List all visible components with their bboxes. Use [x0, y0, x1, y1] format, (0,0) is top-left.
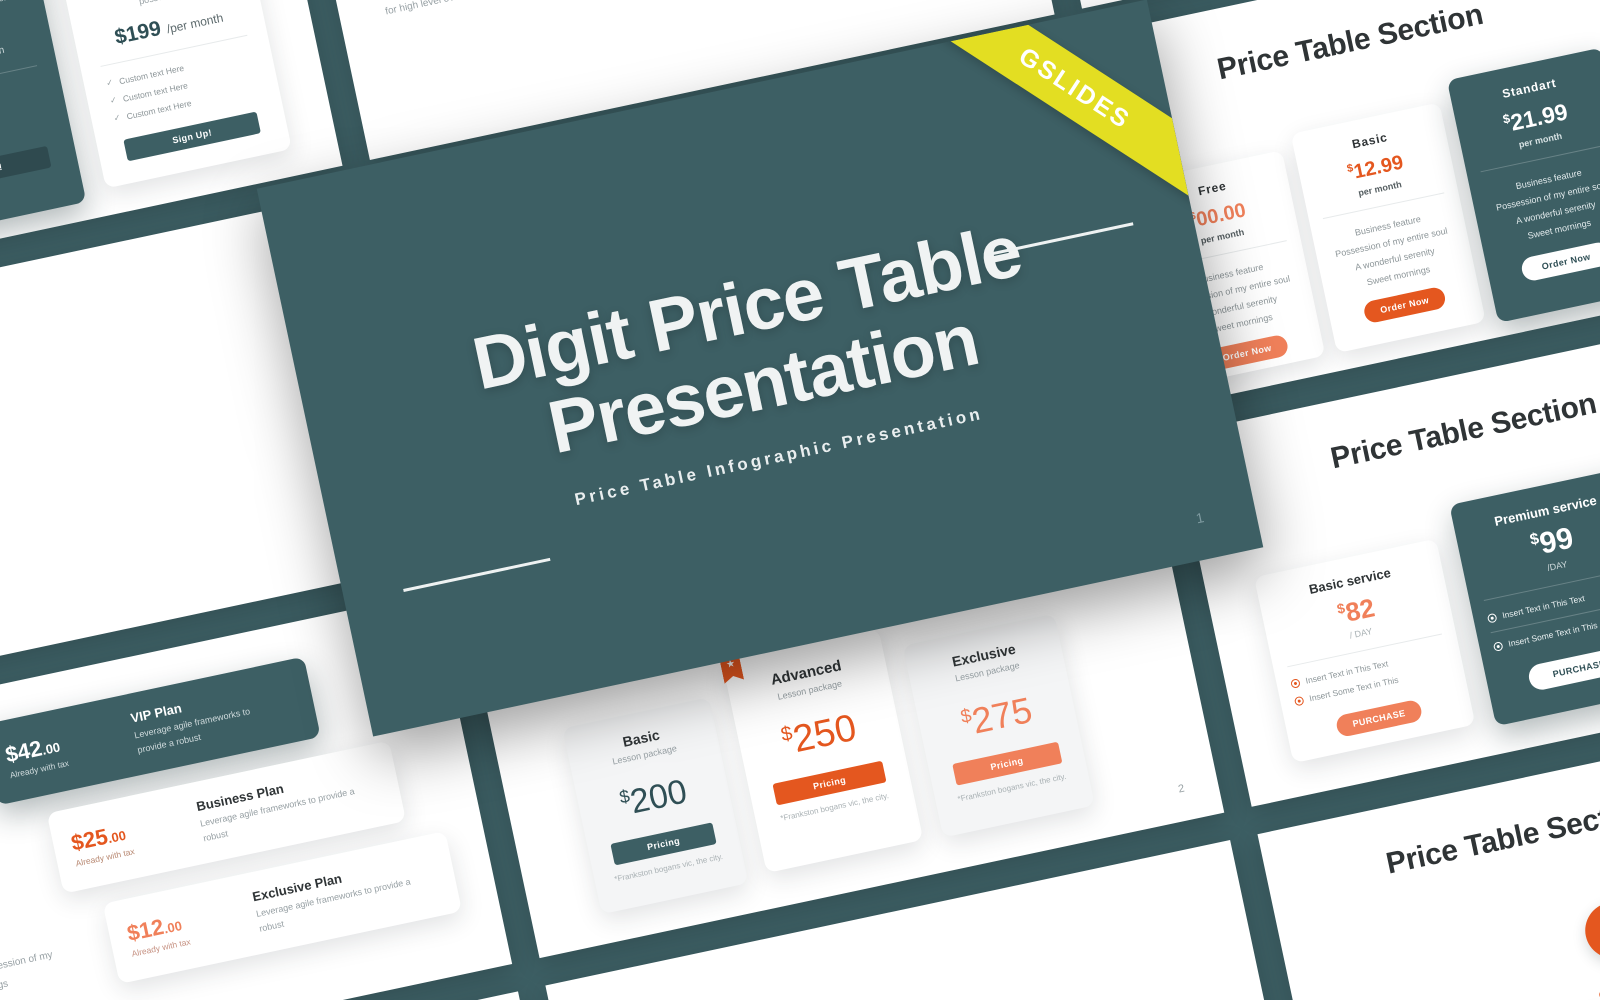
presentation-mockup-canvas: Price Table Section STANDART A wonderful… [0, 0, 1600, 1000]
purchase-button[interactable]: PURCHASE [1335, 699, 1423, 738]
check-circle-icon [1294, 695, 1305, 706]
presentation-title: Digit Price Table Presentation [466, 211, 1044, 480]
lesson-card-advanced[interactable]: ★ Advanced Lesson package $250 Pricing *… [722, 629, 923, 874]
purchase-button[interactable]: PURCHASE [1527, 645, 1600, 692]
plan-card-basic[interactable]: Basic $12.99 per month Business feature … [1291, 102, 1486, 353]
plan-features: Business feature Possession of my entire… [1480, 157, 1600, 253]
page-title: Price Table Section [1214, 0, 1486, 87]
check-circle-icon [1290, 678, 1301, 689]
page-title: Price Table Section [1328, 387, 1600, 477]
check-icon: ✓ [113, 112, 122, 124]
check-icon: ✓ [105, 77, 114, 89]
plan-price: $89 /per month [0, 25, 40, 85]
order-now-button[interactable]: Order Now [1520, 241, 1600, 283]
service-card-premium[interactable]: Premium service $99 /DAY Insert Text in … [1449, 466, 1600, 726]
order-now-button[interactable]: Order Now [1363, 286, 1447, 324]
page-title: Price Table Section [1383, 792, 1600, 882]
plan-card-professonal[interactable]: PROFESSONAL A wonderful serenity has tak… [57, 0, 292, 188]
page-number: 2 [1177, 783, 1185, 796]
icon-slide-price: $32.00 [1596, 972, 1600, 1000]
plan-price: $250 [746, 700, 892, 771]
lesson-card-basic[interactable]: Basic Lesson package $200 Pricing *Frank… [562, 697, 748, 914]
check-circle-icon [1487, 612, 1498, 623]
plan-features: Business feature Possession of my entire… [1322, 204, 1465, 298]
service-card-basic[interactable]: Basic service $82 / DAY Insert Text in T… [1254, 539, 1475, 764]
check-icon: ✓ [109, 94, 118, 106]
intro-body: A wonderful serenity has taken possessio… [0, 943, 72, 1000]
signup-button[interactable]: Sign Up! [0, 146, 52, 196]
mega-cash-body: Leverage agile frameworks to provide a r… [380, 0, 632, 21]
lesson-card-exclusive[interactable]: Exclusive Lesson package $275 Pricing *F… [903, 614, 1095, 838]
plan-price: $275 [926, 682, 1067, 751]
plan-price: $200 [586, 766, 721, 831]
building-icon [1580, 897, 1600, 963]
check-circle-icon [1493, 641, 1504, 652]
signup-button[interactable]: Sign Up! [123, 112, 261, 162]
